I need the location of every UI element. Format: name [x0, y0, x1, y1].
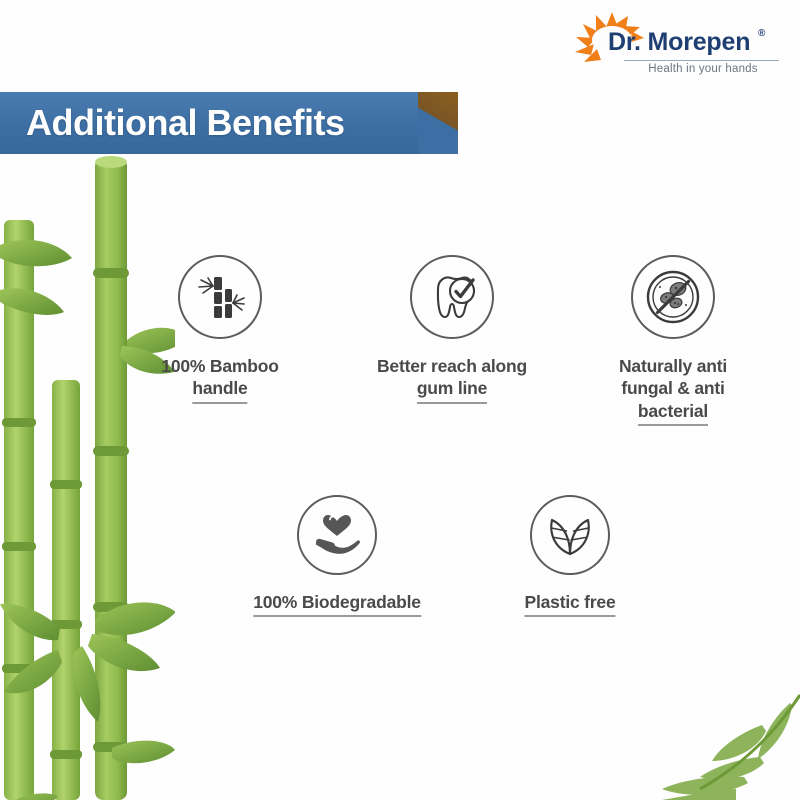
benefit-icon-circle: [631, 255, 715, 339]
caption-line-underlined: 100% Biodegradable: [253, 591, 421, 617]
promo-canvas: Dr. Morepen ® Health in your hands Addit…: [0, 0, 800, 800]
caption-line-underlined: bacterial: [638, 400, 708, 426]
benefit-caption: Plastic free: [525, 591, 616, 617]
caption-line-underlined: handle: [192, 377, 247, 403]
benefit-caption: 100% Biodegradable: [253, 591, 421, 617]
caption-line: Better reach along: [377, 355, 527, 377]
brand-tagline: Health in your hands: [624, 63, 782, 75]
benefit-caption: Better reach along gum line: [377, 355, 527, 404]
brand-wordmark: Dr. Morepen: [608, 28, 750, 57]
hand-holding-heart-icon: [312, 510, 362, 560]
benefit-caption: Naturally anti fungal & anti bacterial: [619, 355, 727, 426]
leaf-sprig-illustration: [640, 685, 800, 800]
caption-line-underlined: gum line: [417, 377, 487, 403]
caption-line: 100% Bamboo: [161, 355, 278, 377]
bamboo-stalk-icon: [194, 271, 246, 323]
brand-logo: Dr. Morepen ® Health in your hands: [572, 8, 782, 86]
benefit-caption: 100% Bamboo handle: [161, 355, 278, 404]
bamboo-stalk-mid: [50, 380, 82, 800]
page-title: Additional Benefits: [26, 92, 345, 154]
caption-line-underlined: Plastic free: [525, 591, 616, 617]
benefit-icon-circle: [297, 495, 377, 575]
caption-line: Naturally anti: [619, 355, 727, 377]
benefit-icon-circle: [410, 255, 494, 339]
no-bacteria-icon: [645, 269, 701, 325]
header-banner: Additional Benefits: [0, 92, 458, 154]
two-leaves-icon: [545, 510, 595, 560]
registered-mark: ®: [758, 28, 765, 39]
benefit-icon-circle: [530, 495, 610, 575]
benefit-icon-circle: [178, 255, 262, 339]
caption-line: fungal & anti: [619, 377, 727, 399]
tooth-check-icon: [425, 270, 479, 324]
bamboo-illustration: [0, 150, 175, 800]
banner-wedge-accent: [418, 92, 458, 154]
brand-divider: [624, 60, 779, 61]
